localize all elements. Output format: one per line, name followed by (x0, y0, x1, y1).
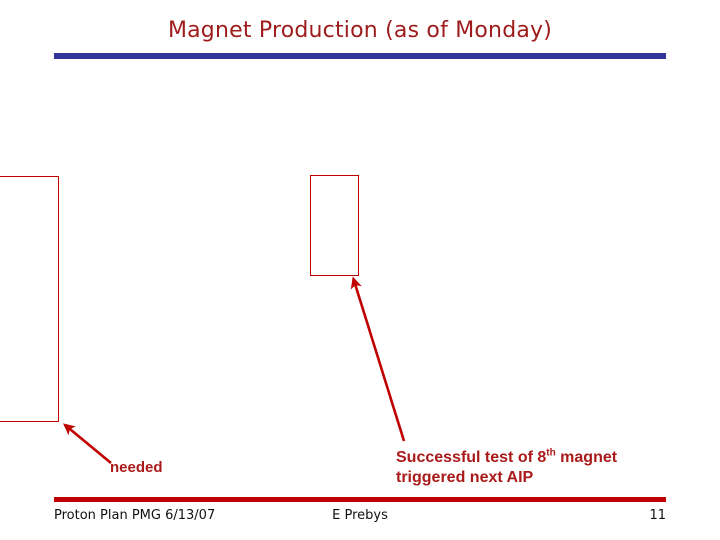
arrow-to-middle-box (354, 279, 405, 441)
callout-successful-test-ordinal-suffix: th (546, 448, 555, 459)
footer-meeting-label: Proton Plan PMG 6/13/07 (54, 508, 215, 523)
callout-successful-test: Successful test of 8th magnet triggered … (396, 448, 646, 488)
arrow-to-left-box (65, 425, 111, 463)
middle-chart-placeholder (310, 175, 359, 276)
callout-successful-test-line1-post: magnet (556, 449, 617, 466)
footer-page-number: 11 (649, 508, 666, 523)
slide-canvas: Magnet Production (as of Monday) needed … (0, 0, 720, 540)
left-chart-placeholder (0, 176, 59, 422)
footer-author-label: E Prebys (332, 508, 388, 523)
page-title: Magnet Production (as of Monday) (54, 18, 666, 43)
footer-divider (54, 497, 666, 502)
callout-needed: needed (110, 459, 163, 476)
callout-successful-test-line2: triggered next AIP (396, 469, 533, 486)
header-divider (54, 53, 666, 59)
callout-successful-test-line1-pre: Successful test of 8 (396, 449, 546, 466)
